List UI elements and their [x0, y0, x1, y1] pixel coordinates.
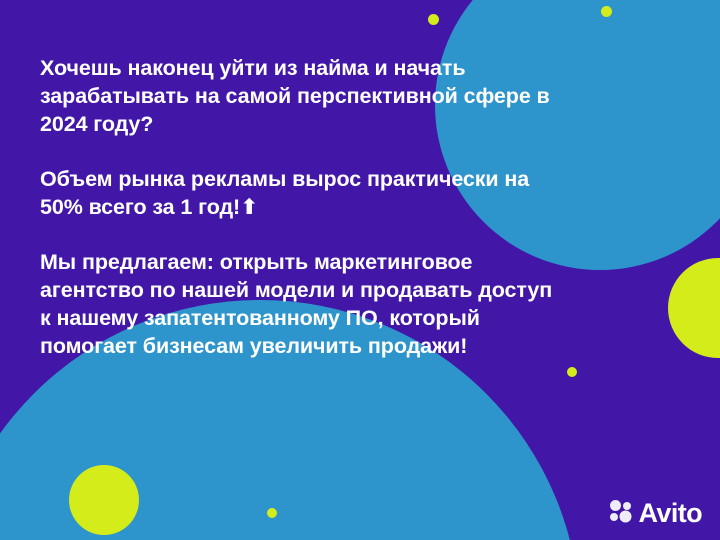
decorative-yellow-circle-right	[668, 258, 720, 358]
decorative-yellow-circle-bottom-left	[69, 465, 139, 535]
decorative-yellow-dot	[601, 6, 612, 17]
offer-paragraph: Мы предлагаем: открыть маркетинговое аге…	[40, 248, 560, 360]
decorative-yellow-dot	[428, 14, 439, 25]
poster-text-block: Хочешь наконец уйти из найма и начать за…	[40, 54, 560, 360]
avito-logo: Avito	[608, 499, 703, 528]
decorative-yellow-dot	[267, 508, 277, 518]
avito-dots-icon	[608, 499, 634, 528]
statistic-paragraph: Объем рынка рекламы вырос практически на…	[40, 165, 560, 221]
avito-wordmark: Avito	[639, 500, 703, 527]
decorative-yellow-dot	[567, 367, 577, 377]
headline-paragraph: Хочешь наконец уйти из найма и начать за…	[40, 54, 560, 138]
advertisement-poster: Хочешь наконец уйти из найма и начать за…	[0, 0, 720, 540]
